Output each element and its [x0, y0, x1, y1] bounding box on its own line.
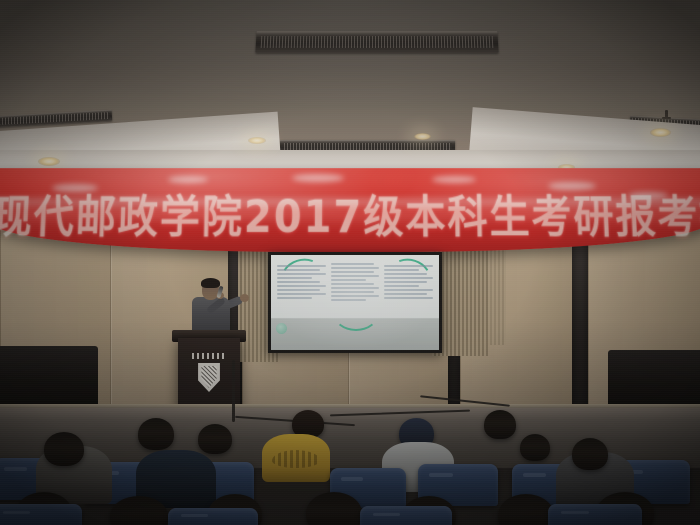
side-bench-left: [0, 346, 98, 408]
audience-head: [138, 418, 174, 450]
audience-person-yellow-shirt: [262, 434, 330, 482]
sprinkler-icon: [665, 110, 668, 119]
audience-head: [44, 432, 84, 466]
ceiling-vent-icon: [255, 31, 498, 53]
audience-head: [520, 434, 550, 461]
presenter-right-hand: [240, 294, 249, 302]
audience-head: [572, 438, 608, 470]
event-banner: 现代邮政学院2017级本科生考研报考指导会: [0, 168, 700, 264]
audience-head: [198, 424, 232, 454]
slide-column-right: [384, 263, 433, 319]
auditorium-chair: [548, 504, 642, 525]
crest-wordmark: [192, 353, 226, 359]
slide-column-center: [331, 263, 380, 319]
downlight-icon: [650, 128, 671, 137]
auditorium-chair: [0, 504, 82, 525]
downlight-icon: [414, 133, 431, 140]
presenter-hair: [201, 278, 220, 288]
university-crest-icon: [194, 360, 224, 394]
auditorium-chair: [168, 508, 258, 525]
auditorium-photo: 现代邮政学院2017级本科生考研报考指导会: [0, 0, 700, 525]
downlight-icon: [38, 157, 60, 166]
banner-title: 现代邮政学院2017级本科生考研报考指导会: [0, 181, 700, 246]
audience: [0, 400, 700, 525]
slide-column-left: [277, 263, 326, 319]
downlight-icon: [248, 137, 266, 144]
audience-head: [484, 410, 516, 439]
auditorium-chair: [360, 506, 452, 525]
shirt-graphic-text: [272, 450, 320, 468]
acoustic-panel: [488, 250, 506, 345]
slide-surface: [271, 255, 439, 350]
slide-text-columns: [277, 263, 433, 319]
slide-logo-icon: [276, 323, 287, 334]
projection-screen: [268, 252, 442, 353]
